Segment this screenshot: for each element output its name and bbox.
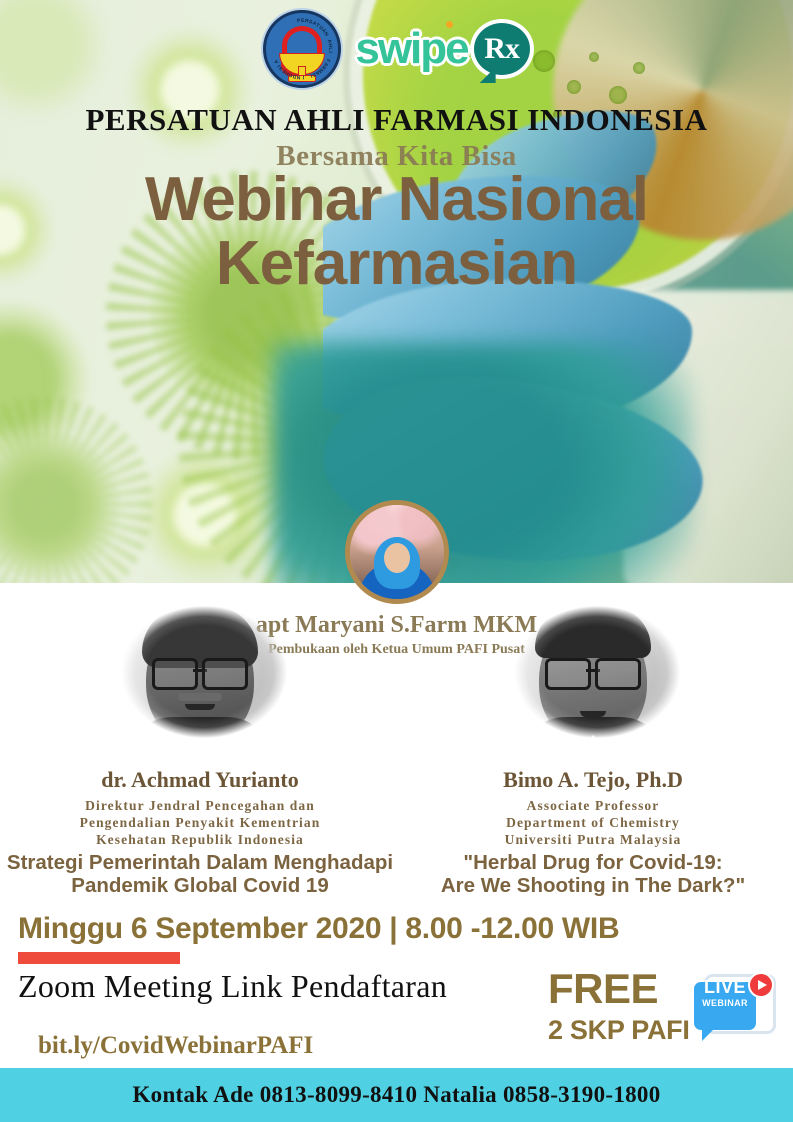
eyeglasses-icon	[152, 658, 248, 684]
portrait-shoulders	[125, 717, 275, 765]
speaker-left-role-line-3: Kesehatan Republik Indonesia	[0, 832, 400, 849]
price-block: FREE 2 SKP PAFI	[548, 968, 690, 1044]
portrait-mouth	[580, 711, 606, 717]
speaker-right-role-line-2: Department of Chemistry	[393, 815, 793, 832]
price-headline: FREE	[548, 968, 690, 1010]
swipe-dot-icon	[446, 21, 453, 28]
registration-link[interactable]: bit.ly/CovidWebinarPAFI	[38, 1032, 313, 1060]
speaker-right-portrait	[488, 588, 698, 763]
title-line-2: Kefarmasian	[0, 232, 793, 296]
red-underline-bar	[18, 952, 180, 964]
platform-line: Zoom Meeting Link Pendaftaran	[18, 968, 447, 1005]
price-credits: 2 SKP PAFI	[548, 1017, 690, 1044]
organization-title: PERSATUAN AHLI FARMASI INDONESIA	[0, 102, 793, 138]
portrait-moustache	[178, 693, 222, 701]
speaker-right-role-line-3: Universiti Putra Malaysia	[393, 832, 793, 849]
rx-label: Rx	[484, 34, 519, 64]
speaker-left: dr. Achmad Yurianto Direktur Jendral Pen…	[0, 588, 400, 898]
badge-webinar-label: WEBINAR	[694, 998, 756, 1008]
contact-text: Kontak Ade 0813-8099-8410 Natalia 0858-3…	[132, 1082, 660, 1108]
speaker-left-name: dr. Achmad Yurianto	[0, 767, 400, 793]
speaker-right-role: Associate Professor Department of Chemis…	[393, 798, 793, 849]
contact-footer: Kontak Ade 0813-8099-8410 Natalia 0858-3…	[0, 1068, 793, 1122]
speaker-left-role: Direktur Jendral Pencegahan dan Pengenda…	[0, 798, 400, 849]
speaker-right-role-line-1: Associate Professor	[393, 798, 793, 815]
speaker-right: Bimo A. Tejo, Ph.D Associate Professor D…	[393, 588, 793, 898]
swiperx-logo: swipe Rx	[355, 23, 529, 75]
avatar-face	[384, 543, 410, 573]
eyeglasses-icon	[545, 658, 641, 684]
page-title: Webinar Nasional Kefarmasian	[0, 168, 793, 297]
logo-row: PERSATUAN AHLI FARMASI INDONESIA swipe R…	[0, 8, 793, 90]
speaker-left-topic-line-1: Strategi Pemerintah Dalam Menghadapi	[0, 852, 400, 875]
speaker-right-topic-line-2: Are We Shooting in The Dark?"	[393, 875, 793, 898]
portrait-hair	[535, 606, 651, 658]
pafi-logo-icon: PERSATUAN AHLI FARMASI INDONESIA	[263, 10, 341, 88]
pafi-ring-text: PERSATUAN AHLI FARMASI INDONESIA	[266, 13, 338, 85]
speaker-left-portrait	[95, 588, 305, 763]
live-webinar-badge-icon: LIVE WEBINAR	[694, 972, 774, 1044]
speaker-right-topic: "Herbal Drug for Covid-19: Are We Shooti…	[393, 852, 793, 898]
speaker-left-topic: Strategi Pemerintah Dalam Menghadapi Pan…	[0, 852, 400, 898]
speaker-right-name: Bimo A. Tejo, Ph.D	[393, 767, 793, 793]
speaker-left-role-line-2: Pengendalian Penyakit Kementrian	[0, 815, 400, 832]
speaker-right-topic-line-1: "Herbal Drug for Covid-19:	[393, 852, 793, 875]
event-datetime: Minggu 6 September 2020 | 8.00 -12.00 WI…	[18, 912, 619, 946]
speaker-left-role-line-1: Direktur Jendral Pencegahan dan	[0, 798, 400, 815]
webinar-poster: PERSATUAN AHLI FARMASI INDONESIA swipe R…	[0, 0, 793, 1122]
play-button-icon	[748, 972, 774, 998]
portrait-mouth	[185, 704, 215, 710]
rx-speech-bubble-icon: Rx	[474, 23, 530, 75]
badge-live-label: LIVE	[694, 978, 756, 996]
speaker-left-topic-line-2: Pandemik Global Covid 19	[0, 875, 400, 898]
title-line-1: Webinar Nasional	[145, 165, 648, 234]
swipe-wordmark: swipe	[355, 27, 467, 71]
